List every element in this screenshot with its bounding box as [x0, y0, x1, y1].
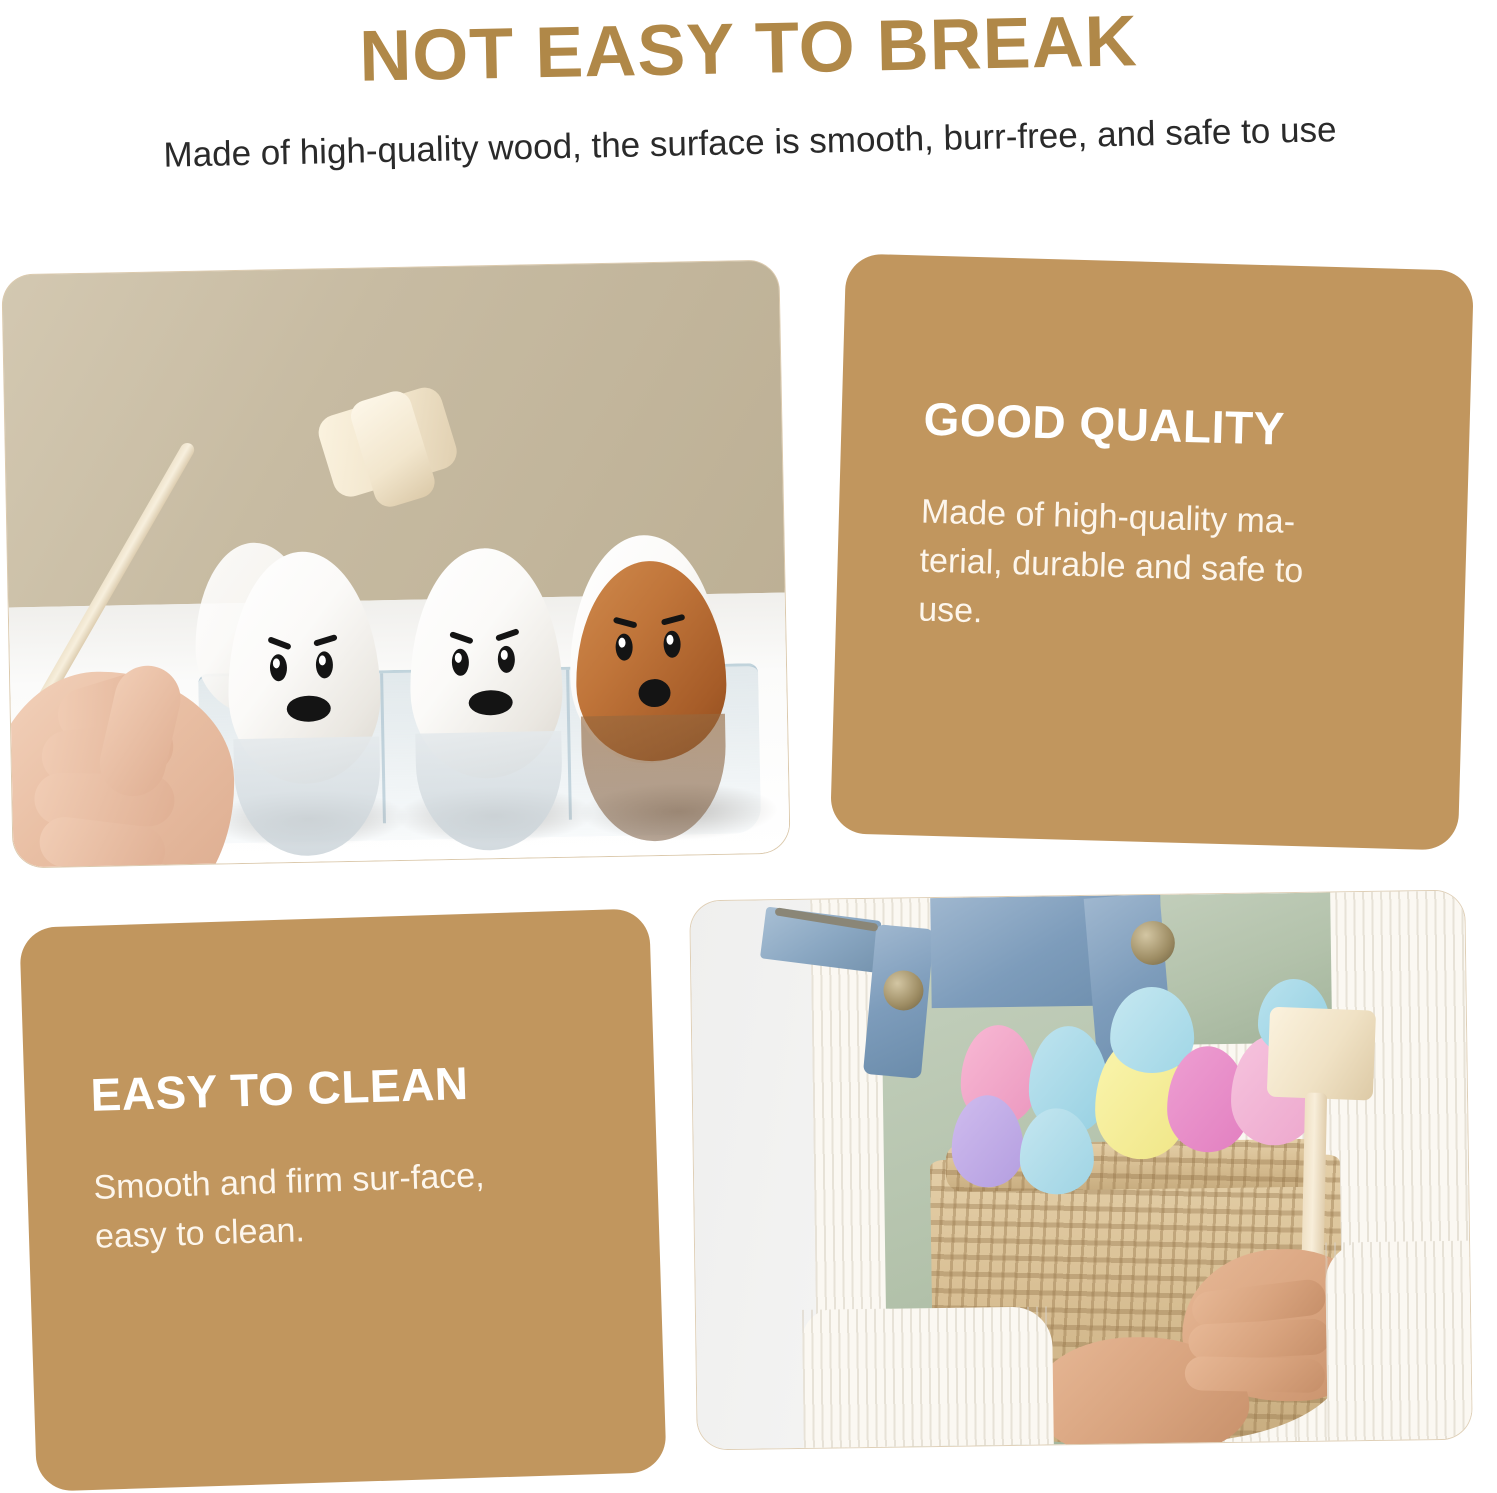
panel-easy-to-clean: EASY TO CLEAN Smooth and firm sur-face, …: [19, 908, 666, 1492]
finger-4: [1185, 1356, 1326, 1393]
sleeve-cuff-left: [802, 1306, 1054, 1447]
page-subtitle: Made of high-quality wood, the surface i…: [120, 106, 1381, 180]
panel-good-quality-title: GOOD QUALITY: [923, 392, 1286, 456]
panel-easy-to-clean-title: EASY TO CLEAN: [90, 1056, 469, 1122]
page-title: NOT EASY TO BREAK: [0, 0, 1497, 105]
photo-child-with-basket: [690, 891, 1472, 1450]
panel-easy-to-clean-body: Smooth and firm sur-face, easy to clean.: [93, 1151, 516, 1262]
panel-good-quality: GOOD QUALITY Made of high-quality ma-ter…: [830, 253, 1474, 850]
sleeve-cuff-right: [1325, 1241, 1472, 1441]
panel-good-quality-body: Made of high-quality ma-terial, durable …: [918, 488, 1342, 647]
wooden-mallet-head-2: [1267, 1007, 1376, 1101]
header-block: NOT EASY TO BREAK Made of high-quality w…: [0, 0, 1497, 250]
finger-3: [1188, 1318, 1332, 1361]
photo-eggs-with-mallet: [2, 261, 789, 868]
